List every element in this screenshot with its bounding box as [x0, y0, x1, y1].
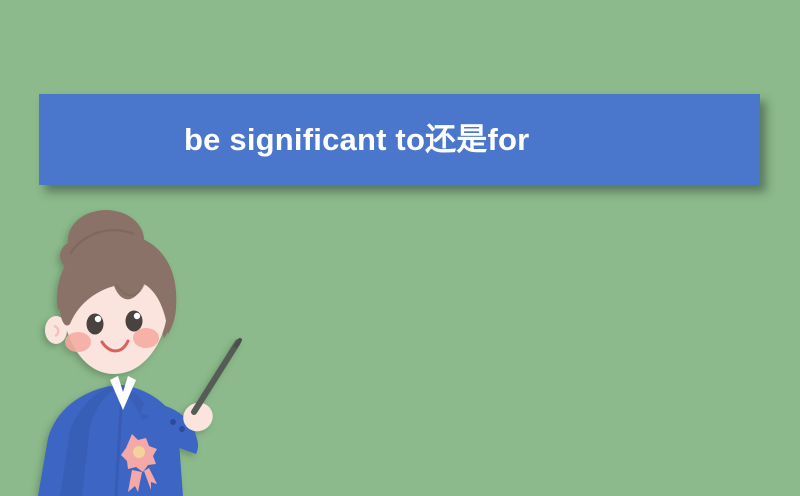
- slide-canvas: be significant to还是for: [0, 0, 800, 496]
- page-title: be significant to还是for: [184, 124, 529, 155]
- jacket-group: [38, 385, 183, 496]
- title-banner: be significant to还是for: [39, 94, 760, 185]
- eye-left-highlight: [95, 316, 101, 322]
- pointer-stick: [194, 342, 238, 412]
- jacket-body: [38, 385, 183, 496]
- badge-center: [133, 446, 145, 458]
- teacher-illustration: [18, 214, 258, 496]
- teacher-body-group: [38, 210, 240, 496]
- eye-left: [87, 314, 104, 335]
- eye-right-highlight: [134, 313, 140, 319]
- cuff-button-1: [170, 419, 176, 425]
- cheek-right: [133, 328, 159, 348]
- cheek-left: [65, 332, 91, 352]
- eye-right: [126, 311, 143, 332]
- cuff-button-2: [179, 426, 185, 432]
